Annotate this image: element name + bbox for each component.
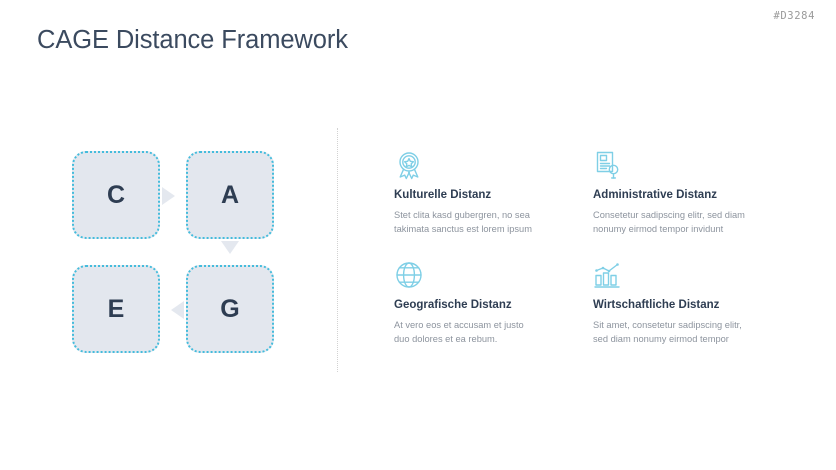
content-item-line: Consetetur sadipscing elitr, sed diam xyxy=(593,208,768,222)
arrow-down-icon xyxy=(221,241,239,254)
content-item-line: takimata sanctus est lorem ipsum xyxy=(394,222,569,236)
content-item-heading: Administrative Distanz xyxy=(593,189,768,201)
content-item-line: sed diam nonumy eirmod tempor xyxy=(593,332,768,346)
content-item-body: Stet clita kasd gubergren, no sea takima… xyxy=(394,208,569,237)
cage-matrix: C A E G xyxy=(72,151,274,353)
content-item-line: Stet clita kasd gubergren, no sea xyxy=(394,208,569,222)
slide-code-label: #D3284 xyxy=(773,10,815,22)
cage-box-cultural[interactable]: C xyxy=(72,151,160,239)
content-item-body: Consetetur sadipscing elitr, sed diam no… xyxy=(593,208,768,237)
content-item-wirtschaftliche[interactable]: Wirtschaftliche Distanz Sit amet, conset… xyxy=(593,260,768,347)
content-item-heading: Wirtschaftliche Distanz xyxy=(593,299,768,311)
content-item-geografische[interactable]: Geografische Distanz At vero eos et accu… xyxy=(394,260,569,347)
content-item-heading: Geografische Distanz xyxy=(394,299,569,311)
arrow-right-icon xyxy=(162,187,175,205)
cage-box-letter: C xyxy=(107,183,125,208)
content-item-line: At vero eos et accusam et justo xyxy=(394,318,569,332)
content-item-administrative[interactable]: Administrative Distanz Consetetur sadips… xyxy=(593,150,768,237)
globe-icon xyxy=(394,260,569,290)
content-item-line: duo dolores et ea rebum. xyxy=(394,332,569,346)
cage-box-administrative[interactable]: A xyxy=(186,151,274,239)
content-item-heading: Kulturelle Distanz xyxy=(394,189,569,201)
cage-box-economic[interactable]: E xyxy=(72,265,160,353)
content-item-body: Sit amet, consetetur sadipscing elitr, s… xyxy=(593,318,768,347)
page-title: CAGE Distance Framework xyxy=(37,26,348,55)
document-search-icon xyxy=(593,150,768,180)
cage-box-letter: A xyxy=(221,183,239,208)
cage-box-letter: G xyxy=(220,297,239,322)
bar-chart-trend-icon xyxy=(593,260,768,290)
award-badge-icon xyxy=(394,150,569,180)
content-item-body: At vero eos et accusam et justo duo dolo… xyxy=(394,318,569,347)
slide-canvas: #D3284 CAGE Distance Framework C A E G xyxy=(0,0,836,470)
content-item-line: Sit amet, consetetur sadipscing elitr, xyxy=(593,318,768,332)
arrow-left-icon xyxy=(171,301,184,319)
content-item-line: nonumy eirmod tempor invidunt xyxy=(593,222,768,236)
cage-box-geographic[interactable]: G xyxy=(186,265,274,353)
vertical-divider xyxy=(337,128,338,372)
content-item-kulturelle[interactable]: Kulturelle Distanz Stet clita kasd guber… xyxy=(394,150,569,237)
cage-box-letter: E xyxy=(108,297,125,322)
